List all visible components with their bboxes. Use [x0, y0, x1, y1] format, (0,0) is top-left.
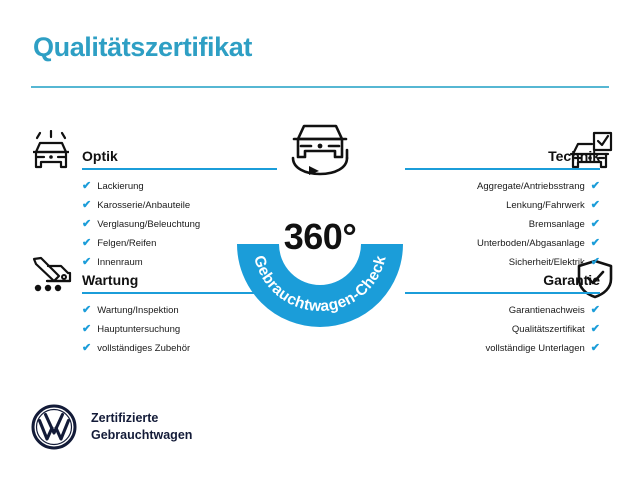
section-garantie-header: Garantie — [405, 266, 600, 294]
check-icon: ✔ — [591, 238, 600, 249]
list-item: Bremsanlage ✔ — [405, 215, 600, 234]
brand-text-line1: Zertifizierte — [91, 410, 192, 427]
brand-lockup: Zertifizierte Gebrauchtwagen — [31, 404, 192, 450]
list-item: Unterboden/Abgasanlage ✔ — [405, 234, 600, 253]
section-technik-list: Aggregate/Antriebsstrang ✔ Lenkung/Fahrw… — [405, 177, 600, 272]
section-garantie-list: Garantienachweis ✔ Qualitätszertifikat ✔… — [405, 301, 600, 358]
list-item-label: Lenkung/Fahrwerk — [506, 196, 585, 215]
list-item-label: Unterboden/Abgasanlage — [477, 234, 585, 253]
list-item-label: Aggregate/Antriebsstrang — [477, 177, 585, 196]
check-icon: ✔ — [82, 343, 91, 354]
check-icon: ✔ — [82, 305, 91, 316]
list-item-label: Garantienachweis — [509, 301, 585, 320]
check-icon: ✔ — [82, 219, 91, 230]
check-icon: ✔ — [591, 343, 600, 354]
volkswagen-logo — [31, 404, 77, 450]
check-icon: ✔ — [591, 305, 600, 316]
check-icon: ✔ — [82, 324, 91, 335]
brand-text: Zertifizierte Gebrauchtwagen — [91, 410, 192, 444]
list-item-label: vollständige Unterlagen — [485, 339, 584, 358]
section-garantie-title: Garantie — [543, 272, 600, 288]
check-icon: ✔ — [591, 324, 600, 335]
list-item-label: Hauptuntersuchung — [97, 320, 180, 339]
check-icon: ✔ — [591, 181, 600, 192]
check-icon: ✔ — [591, 219, 600, 230]
list-item: Aggregate/Antriebsstrang ✔ — [405, 177, 600, 196]
list-item-label: Lackierung — [97, 177, 143, 196]
list-item: Garantienachweis ✔ — [405, 301, 600, 320]
check-icon: ✔ — [82, 238, 91, 249]
list-item: vollständige Unterlagen ✔ — [405, 339, 600, 358]
title-divider — [31, 86, 609, 88]
section-garantie: Garantie Garantienachweis ✔ Qualitätszer… — [405, 266, 600, 374]
page-title: Qualitätszertifikat — [33, 32, 252, 63]
list-item-label: Felgen/Reifen — [97, 234, 156, 253]
car-wrench-icon — [28, 254, 74, 296]
list-item-label: Qualitätszertifikat — [512, 320, 585, 339]
section-optik-title: Optik — [82, 148, 118, 164]
list-item-label: Wartung/Inspektion — [97, 301, 179, 320]
brand-text-line2: Gebrauchtwagen — [91, 427, 192, 444]
list-item-label: Bremsanlage — [529, 215, 585, 234]
list-item-label: Karosserie/Anbauteile — [97, 196, 190, 215]
badge-360-check: Gebrauchtwagen-Check 360° — [228, 152, 412, 336]
section-wartung-title: Wartung — [82, 272, 138, 288]
list-item: Qualitätszertifikat ✔ — [405, 320, 600, 339]
badge-degrees: 360° — [228, 216, 412, 258]
car-shine-icon — [28, 130, 74, 172]
list-item: Lenkung/Fahrwerk ✔ — [405, 196, 600, 215]
check-icon: ✔ — [591, 200, 600, 211]
check-icon: ✔ — [82, 200, 91, 211]
section-technik-divider — [405, 168, 600, 170]
check-icon: ✔ — [82, 181, 91, 192]
list-item-label: Verglasung/Beleuchtung — [97, 215, 200, 234]
list-item: ✔ vollständiges Zubehör — [82, 339, 277, 358]
section-technik-title: Technik — [548, 148, 600, 164]
quality-certificate-page: Qualitätszertifikat — [0, 0, 640, 480]
list-item-label: vollständiges Zubehör — [97, 339, 190, 358]
section-technik-header: Technik — [405, 142, 600, 170]
car-rotation-icon — [285, 116, 355, 178]
section-garantie-divider — [405, 292, 600, 294]
